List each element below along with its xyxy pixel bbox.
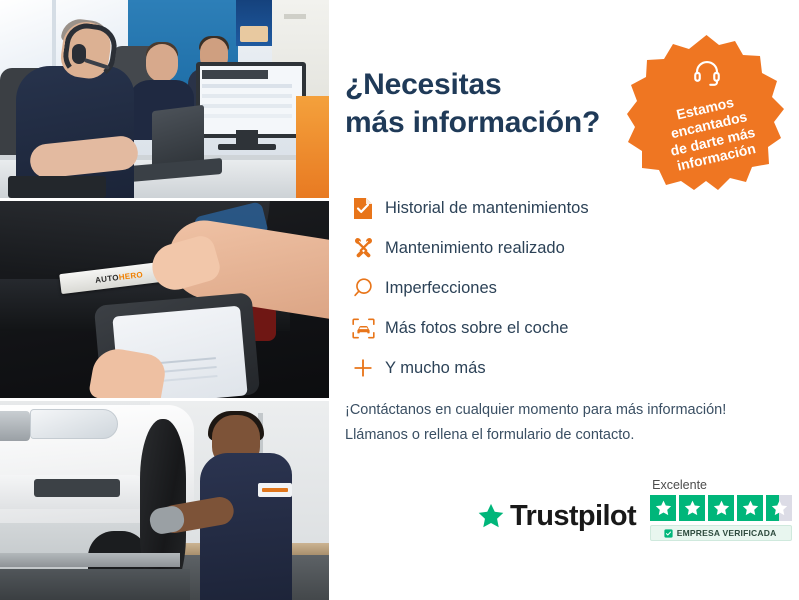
trustpilot-rating[interactable]: Trustpilot Excelente xyxy=(476,478,792,541)
verified-label: EMPRESA VERIFICADA xyxy=(677,528,777,538)
photo-strip: AUTOHERO xyxy=(0,0,329,600)
car-air-vent xyxy=(34,479,120,497)
list-item: Imperfecciones xyxy=(343,268,763,308)
list-item: Mantenimiento realizado xyxy=(343,228,763,268)
call-center-advisers-photo xyxy=(0,0,329,198)
car-grille xyxy=(0,411,30,441)
car-lift-platform xyxy=(0,553,180,567)
ruler-brand-hero: HERO xyxy=(118,270,143,282)
page-title: ¿Necesitas más información? xyxy=(345,66,645,143)
headline-line-1: ¿Necesitas xyxy=(345,66,645,104)
monitor-screen-bar xyxy=(202,70,268,79)
star-filled xyxy=(708,495,734,521)
list-item: Más fotos sobre el coche xyxy=(343,308,763,348)
star-filled xyxy=(679,495,705,521)
monitor-foot xyxy=(218,144,276,150)
car-headlight xyxy=(30,409,118,439)
orange-signage xyxy=(296,96,329,198)
list-item: Historial de mantenimientos xyxy=(343,188,763,228)
star-filled xyxy=(737,495,763,521)
rating-label: Excelente xyxy=(650,478,707,492)
list-item: Y mucho más xyxy=(343,348,763,388)
monitor-screen-rows xyxy=(202,84,292,88)
desk-tablet xyxy=(8,176,106,198)
magnifier-icon xyxy=(343,277,383,299)
wrench-screwdriver-icon xyxy=(343,237,383,260)
list-item-label: Y mucho más xyxy=(383,360,486,377)
star-half xyxy=(766,495,792,521)
workshop-cabinet-left xyxy=(0,569,190,600)
information-banner: AUTOHERO xyxy=(0,0,799,600)
workshop-wheel-check-photo xyxy=(0,401,329,600)
list-item-label: Mantenimiento realizado xyxy=(383,240,565,257)
ruler-brand-text: AUTOHERO xyxy=(95,270,144,285)
content-panel: ¿Necesitas más información? Estamos enca… xyxy=(329,0,799,600)
list-item-label: Imperfecciones xyxy=(383,280,497,297)
star-filled xyxy=(650,495,676,521)
plus-icon xyxy=(343,357,383,379)
contact-line-2: Llámanos o rellena el formulario de cont… xyxy=(345,423,775,448)
trustpilot-star-icon xyxy=(476,502,506,531)
document-check-icon xyxy=(343,197,383,220)
list-item-label: Historial de mantenimientos xyxy=(383,200,589,217)
star-rating xyxy=(650,495,792,521)
adviser-two-head xyxy=(146,44,178,82)
feature-list: Historial de mantenimientos M xyxy=(343,188,763,388)
technician-body xyxy=(200,453,292,600)
wall-poster xyxy=(236,0,272,46)
headline-line-2: más información? xyxy=(345,104,645,142)
status-badge: EMPRESA VERIFICADA xyxy=(650,525,792,541)
bumper-inspection-photo: AUTOHERO xyxy=(0,201,329,398)
contact-text: ¡Contáctanos en cualquier momento para m… xyxy=(345,398,775,448)
status-badge: Estamos encantados de darte más informac… xyxy=(625,33,788,196)
contact-line-1: ¡Contáctanos en cualquier momento para m… xyxy=(345,398,775,423)
uniform-logo-patch xyxy=(258,483,292,497)
trustpilot-logo[interactable]: Trustpilot xyxy=(476,500,636,533)
trustpilot-wordmark: Trustpilot xyxy=(510,500,636,533)
trustpilot-score: Excelente xyxy=(650,478,792,541)
list-item-label: Más fotos sobre el coche xyxy=(383,320,568,337)
car-photo-frame-icon xyxy=(343,318,383,339)
verified-check-icon xyxy=(664,529,673,538)
ruler-brand-auto: AUTO xyxy=(95,273,120,285)
